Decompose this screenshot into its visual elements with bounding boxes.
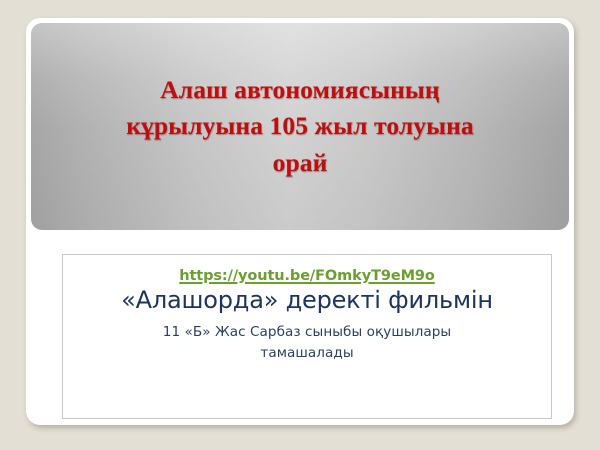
class-description-lines: 11 «Б» Жас Сарбаз сыныбы оқушылары тамаш… (71, 322, 543, 363)
title-banner: Алаш автономиясының кұрылуына 105 жыл то… (31, 23, 569, 230)
film-title-line: «Алашорда» деректі фильмін (71, 286, 543, 315)
content-box: https://youtu.be/FOmkyT9eM9o «Алашорда» … (62, 254, 552, 419)
slide-title: Алаш автономиясының кұрылуына 105 жыл то… (80, 72, 520, 181)
slide-body-area: https://youtu.be/FOmkyT9eM9o «Алашорда» … (31, 230, 569, 420)
video-link[interactable]: https://youtu.be/FOmkyT9eM9o (71, 268, 543, 284)
slide-card: Алаш автономиясының кұрылуына 105 жыл то… (26, 18, 574, 425)
